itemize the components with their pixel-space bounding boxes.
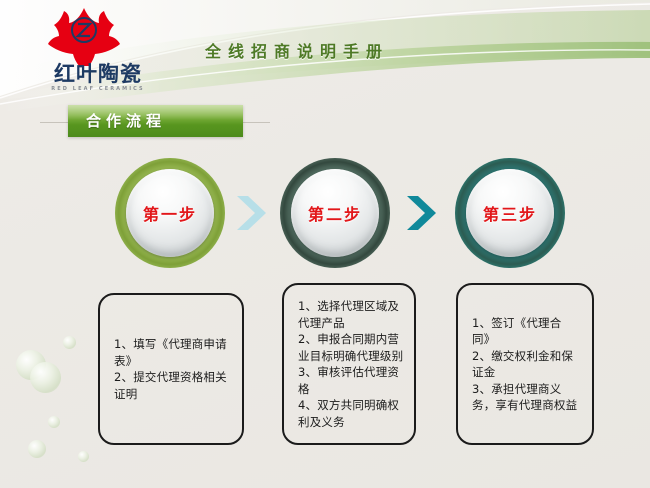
brand-logo: 红叶陶瓷 RED LEAF CERAMICS — [18, 6, 148, 98]
step-3-detail-text: 1、签订《代理合同》 2、缴交权利金和保证金 3、承担代理商义务，享有代理商权益 — [458, 315, 592, 414]
step-circle-2-label: 第二步 — [280, 158, 390, 268]
slide-canvas: 红叶陶瓷 RED LEAF CERAMICS 全线招商说明手册 合作流程 第一步… — [0, 0, 650, 488]
step-2-detail-box: 1、选择代理区域及代理产品 2、申报合同期内营业目标明确代理级别 3、审核评估代… — [282, 283, 416, 445]
chevron-right-icon-1 — [235, 193, 269, 233]
section-title: 合作流程 — [68, 105, 243, 137]
step-3-detail-box: 1、签订《代理合同》 2、缴交权利金和保证金 3、承担代理商义务，享有代理商权益 — [456, 283, 594, 445]
page-title: 全线招商说明手册 — [205, 38, 515, 62]
section-banner: 合作流程 — [40, 105, 270, 139]
step-2-detail-text: 1、选择代理区域及代理产品 2、申报合同期内营业目标明确代理级别 3、审核评估代… — [284, 298, 414, 430]
maple-leaf-icon — [48, 8, 120, 66]
step-circle-2[interactable]: 第二步 — [280, 158, 390, 268]
decor-bubble — [78, 451, 89, 462]
decor-bubble — [28, 440, 46, 458]
brand-name-en: RED LEAF CERAMICS — [38, 86, 158, 92]
decor-bubble — [63, 336, 76, 349]
brand-name-cn: 红叶陶瓷 — [38, 64, 158, 85]
step-1-detail-box: 1、填写《代理商申请表》 2、提交代理资格相关证明 — [98, 293, 244, 445]
banner-plate: 合作流程 — [68, 105, 243, 137]
decor-bubble — [30, 362, 61, 393]
step-1-detail-text: 1、填写《代理商申请表》 2、提交代理资格相关证明 — [100, 336, 242, 402]
step-circle-1-label: 第一步 — [115, 158, 225, 268]
step-circle-3[interactable]: 第三步 — [455, 158, 565, 268]
step-circle-1[interactable]: 第一步 — [115, 158, 225, 268]
decor-bubble — [48, 416, 60, 428]
step-circle-3-label: 第三步 — [455, 158, 565, 268]
chevron-right-icon-2 — [405, 193, 439, 233]
